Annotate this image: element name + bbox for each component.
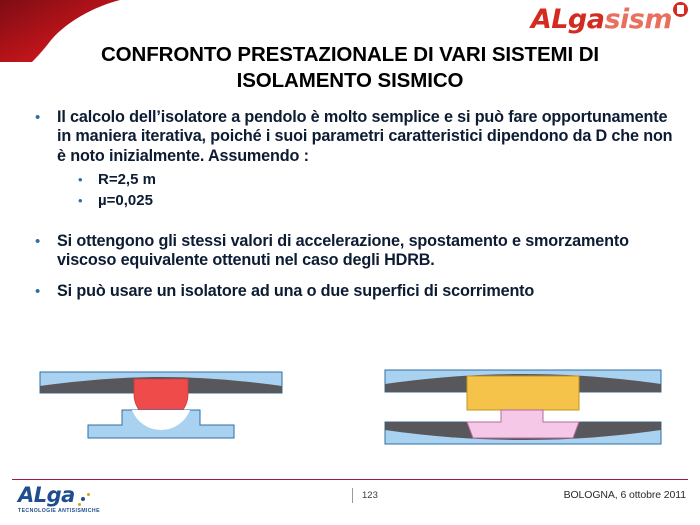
page-title: CONFRONTO PRESTAZIONALE DI VARI SISTEMI … bbox=[40, 42, 660, 93]
footer-logo-dots-icon bbox=[75, 493, 95, 507]
sub-bullet-list: • R=2,5 m • µ=0,025 bbox=[78, 170, 680, 211]
footer-logo: ALga TECNOLOGIE ANTISISMICHE bbox=[18, 485, 158, 514]
spacer bbox=[30, 272, 680, 282]
single-surface-isolator-diagram bbox=[38, 366, 284, 467]
single-surface-isolator-icon bbox=[38, 366, 284, 462]
sub-bullet-text: µ=0,025 bbox=[98, 191, 153, 211]
bullet-text: Si ottengono gli stessi valori di accele… bbox=[57, 232, 680, 271]
bullet-text: Il calcolo dell’isolatore a pendolo è mo… bbox=[57, 108, 680, 166]
bullet-text: Si può usare un isolatore ad una o due s… bbox=[57, 282, 680, 301]
sub-bullet-marker-icon: • bbox=[78, 170, 98, 190]
brand-logo-main: ALga bbox=[531, 6, 605, 33]
bullet-marker-icon: • bbox=[30, 232, 57, 251]
footer-divider-rule bbox=[12, 479, 688, 480]
registered-badge-icon bbox=[673, 2, 688, 17]
double-surface-isolator-icon bbox=[383, 366, 663, 462]
footer-logo-tagline: TECNOLOGIE ANTISISMICHE bbox=[18, 508, 158, 514]
brand-logo: ALga sism bbox=[531, 6, 688, 36]
footer-logo-word: ALga bbox=[18, 485, 75, 506]
bullet-marker-icon: • bbox=[30, 282, 57, 301]
slide-body: • Il calcolo dell’isolatore a pendolo è … bbox=[30, 108, 680, 304]
bullet-item: • Si può usare un isolatore ad una o due… bbox=[30, 282, 680, 301]
bullet-item: • Il calcolo dell’isolatore a pendolo è … bbox=[30, 108, 680, 166]
sub-bullet-item: • µ=0,025 bbox=[78, 191, 680, 211]
sub-bullet-marker-icon: • bbox=[78, 191, 98, 211]
bullet-item: • Si ottengono gli stessi valori di acce… bbox=[30, 232, 680, 271]
footer-event-label: BOLOGNA, 6 ottobre 2011 bbox=[564, 489, 686, 501]
bullet-marker-icon: • bbox=[30, 108, 57, 127]
sub-bullet-item: • R=2,5 m bbox=[78, 170, 680, 190]
brand-logo-sub: sism bbox=[604, 6, 672, 33]
double-surface-isolator-diagram bbox=[383, 366, 663, 467]
footer-vertical-divider bbox=[352, 488, 353, 503]
sub-bullet-text: R=2,5 m bbox=[98, 170, 156, 190]
spacer bbox=[30, 212, 680, 232]
diagram-area bbox=[0, 366, 700, 462]
page-number: 123 bbox=[362, 490, 378, 501]
